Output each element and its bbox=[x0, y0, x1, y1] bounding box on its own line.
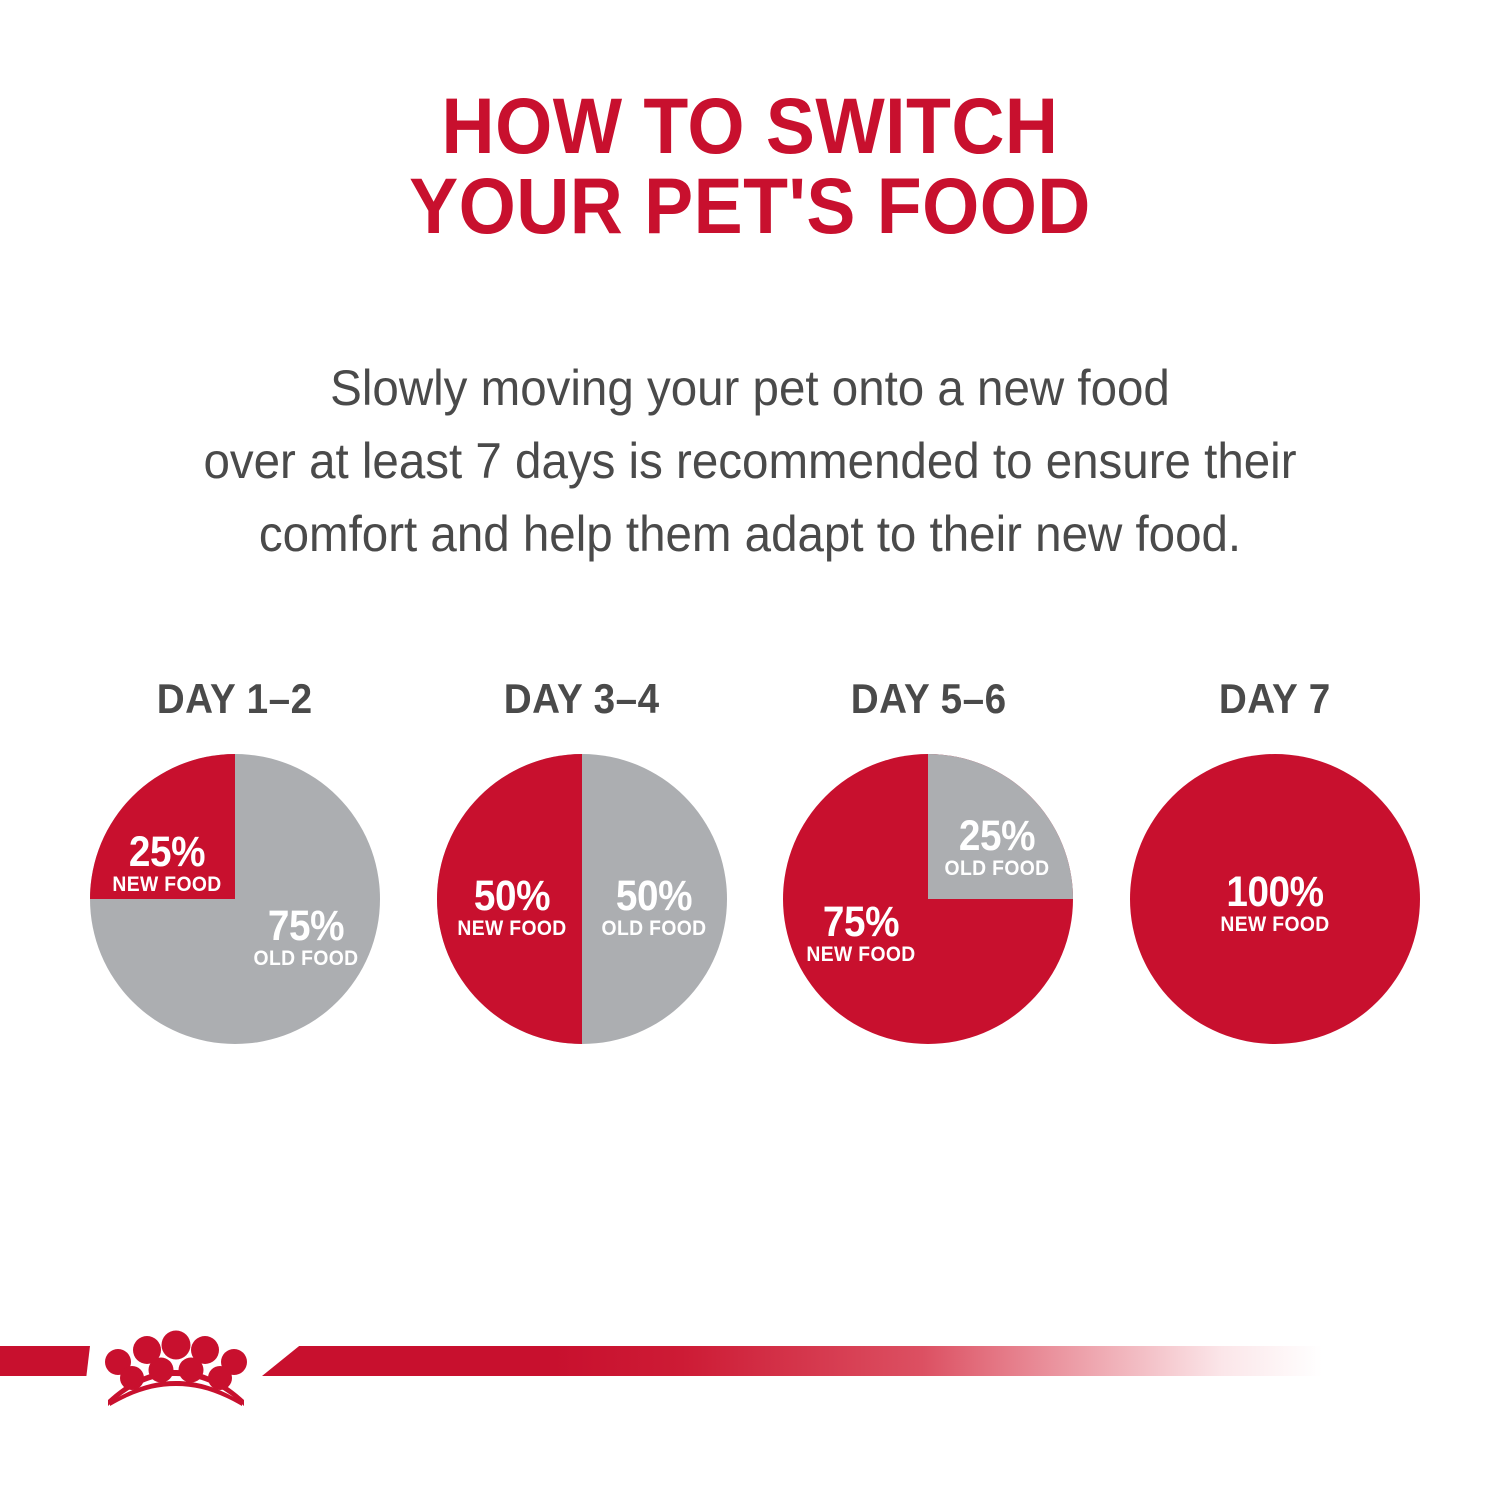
royal-canin-crown-icon bbox=[96, 1310, 256, 1406]
pie-chart-day-3-4: 50% NEW FOOD 50% OLD FOOD bbox=[437, 754, 727, 1044]
brand-bar-right bbox=[262, 1346, 1500, 1376]
pie-chart-row: DAY 1–2 25% NEW FOOD 75% OLD FOOD DAY 3–… bbox=[70, 676, 1440, 1076]
day-label-1: DAY 1–2 bbox=[157, 676, 313, 722]
day-label-2: DAY 3–4 bbox=[504, 676, 660, 722]
pie-cell-day-7: DAY 7 100% NEW FOOD bbox=[1110, 676, 1440, 1044]
intro-line-3: comfort and help them adapt to their new… bbox=[38, 498, 1463, 571]
intro-line-2: over at least 7 days is recommended to e… bbox=[38, 425, 1463, 498]
pie-chart-day-7: 100% NEW FOOD bbox=[1130, 754, 1420, 1044]
page-title-line-2: YOUR PET'S FOOD bbox=[53, 166, 1448, 246]
pie-svg-day-3-4 bbox=[437, 754, 727, 1044]
pie-svg-day-7 bbox=[1130, 754, 1420, 1044]
page-title-line-1: HOW TO SWITCH bbox=[53, 86, 1448, 166]
pie-chart-day-5-6: 25% OLD FOOD 75% NEW FOOD bbox=[783, 754, 1073, 1044]
day-label-3: DAY 5–6 bbox=[850, 676, 1006, 722]
pie-svg-day-1-2 bbox=[90, 754, 380, 1044]
pie-slice-old-food bbox=[928, 754, 1073, 899]
day-label-4: DAY 7 bbox=[1219, 676, 1331, 722]
brand-bar-left bbox=[0, 1346, 90, 1376]
intro-line-1: Slowly moving your pet onto a new food bbox=[38, 352, 1463, 425]
pie-cell-day-3-4: DAY 3–4 50% NEW FOOD 50% OLD FOOD bbox=[417, 676, 747, 1044]
brand-footer bbox=[0, 1346, 1500, 1380]
pie-chart-day-1-2: 25% NEW FOOD 75% OLD FOOD bbox=[90, 754, 380, 1044]
page-title: HOW TO SWITCH YOUR PET'S FOOD bbox=[0, 86, 1500, 246]
crown-svg bbox=[96, 1310, 256, 1406]
pie-cell-day-1-2: DAY 1–2 25% NEW FOOD 75% OLD FOOD bbox=[70, 676, 400, 1044]
pie-svg-day-5-6 bbox=[783, 754, 1073, 1044]
pie-slice-new-food bbox=[437, 754, 582, 1044]
pie-slice-new-food bbox=[1130, 754, 1420, 1044]
intro-paragraph: Slowly moving your pet onto a new food o… bbox=[0, 352, 1500, 571]
pie-slice-new-food bbox=[90, 754, 235, 899]
pie-cell-day-5-6: DAY 5–6 25% OLD FOOD 75% NEW FOOD bbox=[763, 676, 1093, 1044]
